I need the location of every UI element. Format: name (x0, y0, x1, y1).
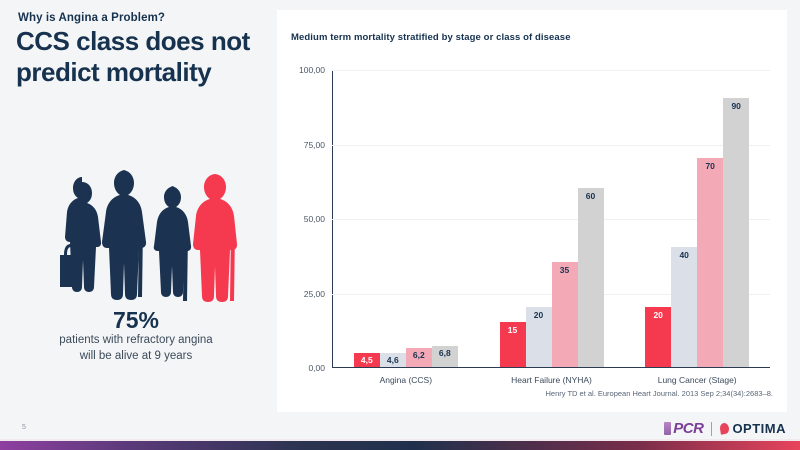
bar[interactable]: 15 (500, 322, 526, 367)
bar[interactable]: 4,5 (354, 353, 380, 366)
x-axis-label: Lung Cancer (Stage) (624, 375, 770, 385)
slide-eyebrow: Why is Angina a Problem? (18, 12, 165, 24)
bar-value-label: 20 (526, 310, 552, 320)
bar-value-label: 6,8 (432, 348, 458, 358)
bar[interactable]: 4,6 (380, 353, 406, 367)
bar[interactable]: 60 (578, 188, 604, 367)
bar-value-label: 4,6 (380, 355, 406, 365)
page-title: CCS class does not predict mortality (16, 26, 266, 87)
bar[interactable]: 20 (645, 307, 671, 367)
chart-plot-area: 100,0075,0050,0025,000,00 4,54,66,26,815… (332, 70, 770, 368)
optima-logo-text: OPTIMA (732, 422, 786, 435)
optima-mark-icon (720, 422, 731, 434)
optima-logo[interactable]: OPTIMA (720, 422, 786, 435)
bar-value-label: 35 (552, 265, 578, 275)
bar-value-label: 70 (697, 161, 723, 171)
bar-value-label: 20 (645, 310, 671, 320)
x-axis-label: Angina (CCS) (333, 375, 479, 385)
stat-line-1: patients with refractory angina (0, 333, 272, 349)
x-axis-label: Heart Failure (NYHA) (479, 375, 625, 385)
bar-group: 15203560 (479, 71, 625, 367)
pcr-mark-icon (664, 422, 671, 435)
left-panel: Why is Angina a Problem? CCS class does … (0, 0, 272, 450)
logo-divider (711, 422, 712, 436)
bar[interactable]: 90 (723, 98, 749, 366)
stat-number: 75% (0, 308, 272, 333)
x-axis-labels: Angina (CCS)Heart Failure (NYHA)Lung Can… (333, 375, 770, 385)
elderly-people-silhouettes-icon (52, 160, 242, 302)
footer-gradient-strip (0, 441, 800, 450)
stat-line-2: will be alive at 9 years (0, 349, 272, 365)
bar-group: 4,54,66,26,8 (333, 71, 479, 367)
page-number: 5 (22, 424, 26, 431)
bar[interactable]: 6,8 (432, 346, 458, 366)
chart-card: Medium term mortality stratified by stag… (277, 10, 787, 412)
chart-citation: Henry TD et al. European Heart Journal. … (545, 389, 773, 398)
slide-root: Why is Angina a Problem? CCS class does … (0, 0, 800, 450)
footer-logos: PCR OPTIMA (664, 421, 786, 436)
y-axis-tick-label: 25,00 (304, 289, 325, 299)
pcr-logo-text: PCR (673, 421, 703, 436)
bar-value-label: 6,2 (406, 350, 432, 360)
x-axis-line (332, 367, 770, 368)
y-axis-tick-label: 0,00 (308, 363, 325, 373)
bar-value-label: 15 (500, 325, 526, 335)
bar-value-label: 4,5 (354, 355, 380, 365)
bar-value-label: 60 (578, 191, 604, 201)
stat-block: 75% patients with refractory angina will… (0, 308, 272, 364)
bar[interactable]: 70 (697, 158, 723, 367)
chart-title: Medium term mortality stratified by stag… (291, 32, 571, 43)
bar-groups: 4,54,66,26,81520356020407090 (333, 71, 770, 367)
y-axis-tick-label: 75,00 (304, 140, 325, 150)
y-axis-tick-label: 50,00 (304, 214, 325, 224)
bar[interactable]: 35 (552, 262, 578, 366)
bar-value-label: 40 (671, 250, 697, 260)
bar[interactable]: 40 (671, 247, 697, 366)
bar-value-label: 90 (723, 101, 749, 111)
bar[interactable]: 20 (526, 307, 552, 367)
bar-group: 20407090 (624, 71, 770, 367)
bar[interactable]: 6,2 (406, 348, 432, 366)
pcr-logo[interactable]: PCR (664, 421, 703, 436)
y-axis-tick-label: 100,00 (299, 65, 325, 75)
